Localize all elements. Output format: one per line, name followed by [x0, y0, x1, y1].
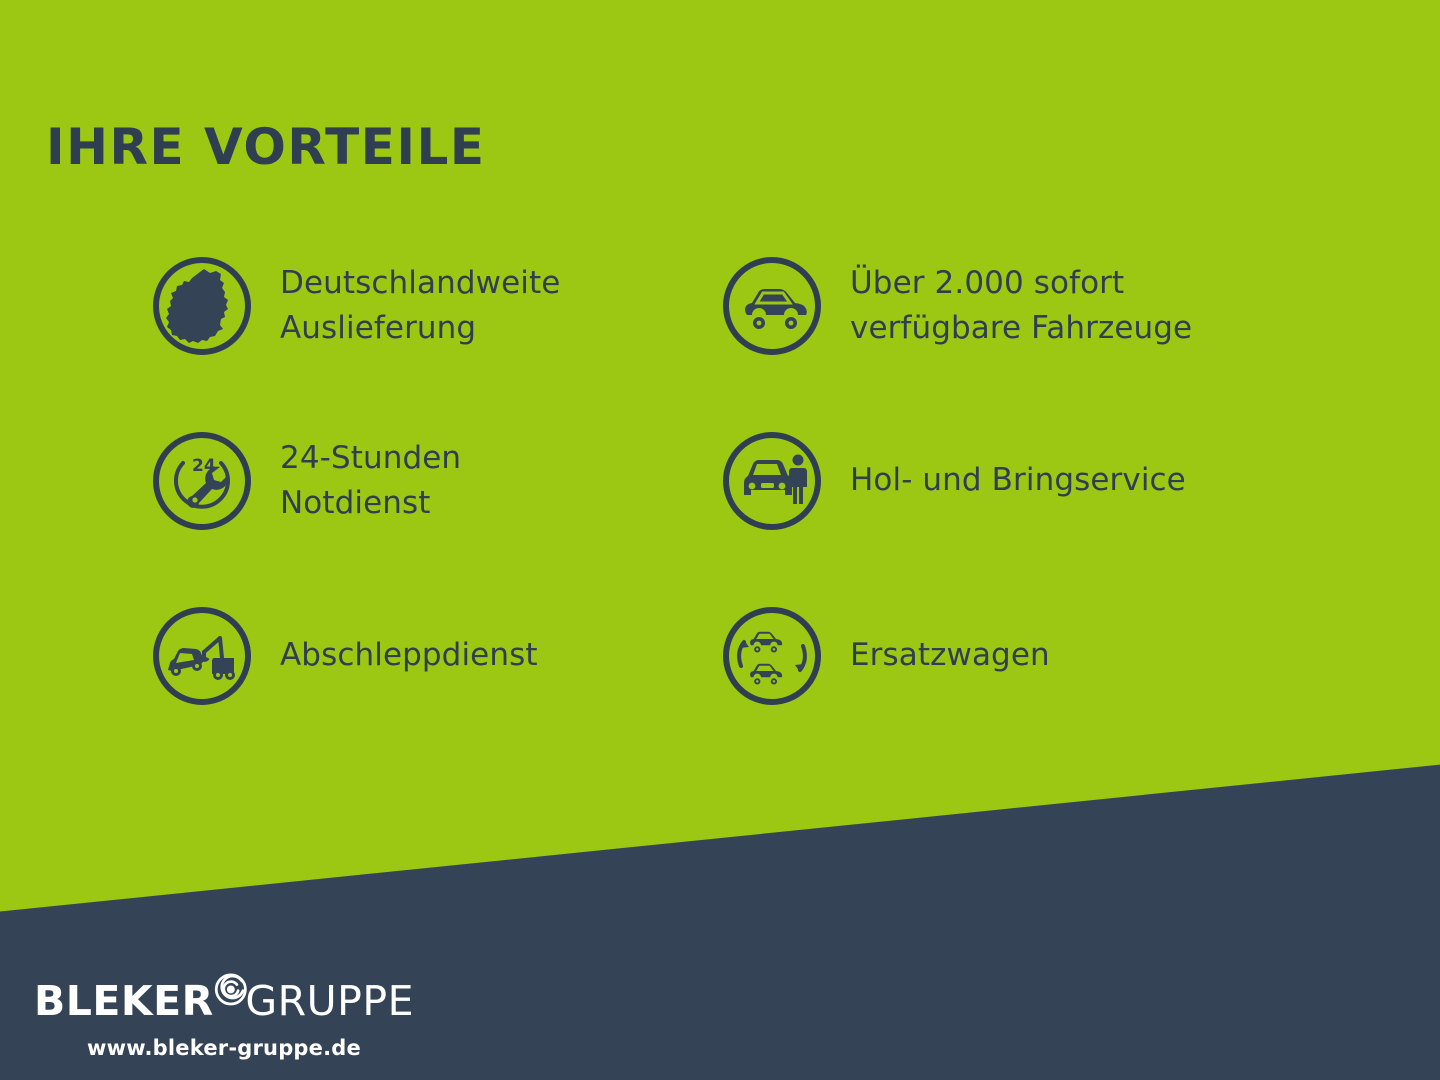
logo-wordmark-row: BLEKER GRUPPE: [34, 970, 414, 1032]
benefit-label: Abschleppdienst: [280, 633, 538, 678]
brand-logo: BLEKER GRUPPE www.bleker-gruppe.de: [34, 970, 414, 1060]
benefit-label-line1: Über 2.000 sofort: [850, 265, 1124, 301]
benefit-label-line2: Auslieferung: [280, 306, 560, 351]
benefits-grid: Deutschlandweite Auslieferung Über 2.000…: [150, 218, 1390, 743]
benefit-item-ersatzwagen: Ersatzwagen: [720, 568, 1290, 743]
logo-website-url: www.bleker-gruppe.de: [34, 1036, 414, 1060]
benefit-label-line1: 24-Stunden: [280, 440, 461, 476]
benefit-label-line1: Abschleppdienst: [280, 637, 538, 673]
slide-ihre-vorteile: IHRE VORTEILE Deutschlandweite Ausliefer…: [0, 0, 1440, 1080]
benefit-label-line1: Deutschlandweite: [280, 265, 560, 301]
benefit-label: Über 2.000 sofort verfügbare Fahrzeuge: [850, 261, 1192, 351]
tow-truck-icon: [150, 604, 254, 708]
benefit-label-line2: Notdienst: [280, 481, 461, 526]
germany-map-icon: [150, 254, 254, 358]
page-title: IHRE VORTEILE: [46, 122, 485, 172]
benefit-item-verfuegbare-fahrzeuge: Über 2.000 sofort verfügbare Fahrzeuge: [720, 218, 1290, 393]
benefit-label-line1: Ersatzwagen: [850, 637, 1050, 673]
benefit-item-24-stunden-notdienst: 24 24-Stunden Notdienst: [150, 393, 710, 568]
benefit-label-line1: Hol- und Bringservice: [850, 462, 1186, 498]
benefit-label: Deutschlandweite Auslieferung: [280, 261, 560, 351]
benefit-label: 24-Stunden Notdienst: [280, 436, 461, 526]
benefit-item-hol-und-bringservice: Hol- und Bringservice: [720, 393, 1290, 568]
24-hour-wrench-icon: 24: [150, 429, 254, 533]
car-side-icon: [720, 254, 824, 358]
svg-text:24: 24: [192, 456, 216, 476]
two-cars-exchange-icon: [720, 604, 824, 708]
benefit-label-line2: verfügbare Fahrzeuge: [850, 306, 1192, 351]
benefit-label: Hol- und Bringservice: [850, 458, 1186, 503]
benefit-item-abschleppdienst: Abschleppdienst: [150, 568, 710, 743]
spiral-circle-logo-icon: [212, 970, 250, 1032]
benefit-label: Ersatzwagen: [850, 633, 1050, 678]
benefit-item-deutschlandweite-auslieferung: Deutschlandweite Auslieferung: [150, 218, 710, 393]
car-with-person-icon: [720, 429, 824, 533]
logo-name-bold: BLEKER: [34, 981, 214, 1022]
logo-name-light: GRUPPE: [245, 981, 414, 1022]
